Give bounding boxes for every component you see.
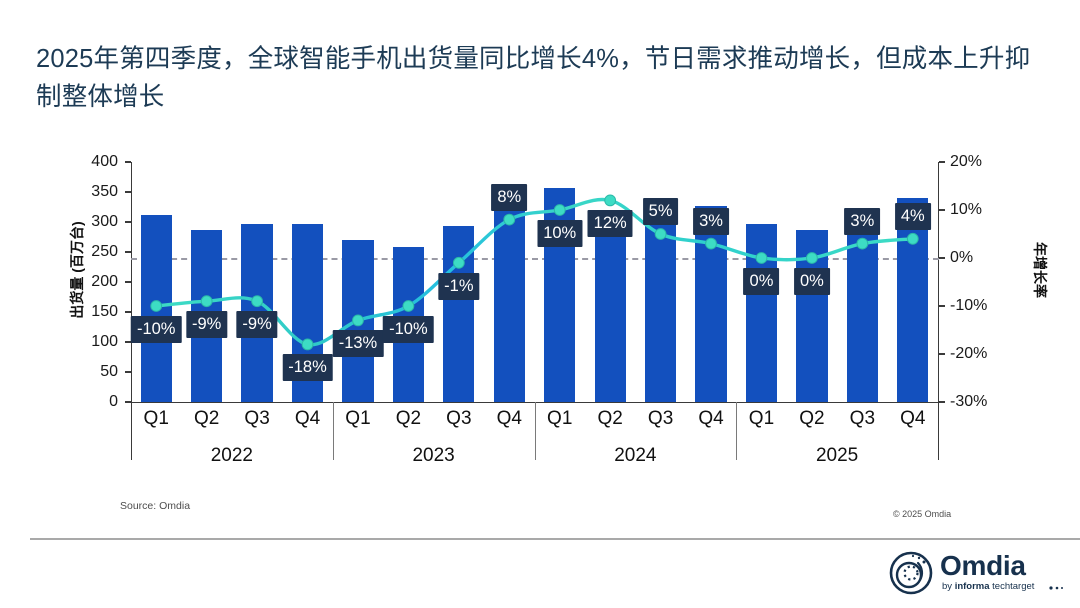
line-marker <box>252 296 263 307</box>
data-label: -9% <box>186 311 227 338</box>
x-axis-quarter-label: Q2 <box>396 408 421 430</box>
y-axis-right-tick-label: -30% <box>950 394 1020 410</box>
y-axis-right-title: 年增长率 <box>1030 185 1050 355</box>
line-marker <box>403 301 414 312</box>
tagline-prefix: by <box>942 581 955 592</box>
y-axis-right-tick <box>939 305 945 306</box>
x-axis-year-label: 2024 <box>614 445 656 467</box>
data-label: 3% <box>844 208 880 235</box>
y-axis-left-tick-label: 300 <box>62 214 118 230</box>
x-axis-quarter-label: Q1 <box>144 408 169 430</box>
x-axis-group-separator <box>535 402 536 460</box>
x-axis-group-separator <box>131 402 132 460</box>
x-axis-quarter-label: Q1 <box>345 408 370 430</box>
line-marker <box>706 238 717 249</box>
omdia-logo-tagline: by informa techtarget <box>942 581 1034 592</box>
line-marker <box>605 195 616 206</box>
y-axis-right-tick <box>939 209 945 210</box>
data-label: 4% <box>895 203 931 230</box>
tagline-suffix: techtarget <box>990 581 1035 592</box>
line-marker <box>807 253 818 264</box>
x-axis-year-label: 2023 <box>412 445 454 467</box>
y-axis-left-tick-label: 100 <box>62 334 118 350</box>
footer-divider <box>30 538 1080 540</box>
x-axis-quarter-label: Q2 <box>799 408 824 430</box>
y-axis-right-tick <box>939 353 945 354</box>
y-axis-left-tick-label: 150 <box>62 304 118 320</box>
data-label: 0% <box>794 268 830 295</box>
data-label: -10% <box>383 316 434 343</box>
source-note: Source: Omdia <box>120 500 190 512</box>
x-axis-quarter-label: Q4 <box>900 408 925 430</box>
line-marker <box>756 253 767 264</box>
y-axis-left-tick-label: 0 <box>62 394 118 410</box>
data-label: 10% <box>537 220 582 247</box>
data-label: -9% <box>236 311 277 338</box>
y-axis-right-tick-label: 10% <box>950 202 1020 218</box>
data-label: 0% <box>744 268 780 295</box>
data-label: 12% <box>588 210 633 237</box>
line-marker <box>655 229 666 240</box>
tagline-bold: informa <box>955 581 990 592</box>
data-label: -1% <box>438 273 479 300</box>
x-axis-quarter-label: Q3 <box>850 408 875 430</box>
line-marker <box>302 339 313 350</box>
x-axis-quarter-label: Q3 <box>648 408 673 430</box>
y-axis-left-tick-label: 400 <box>62 154 118 170</box>
x-axis-group-separator <box>736 402 737 460</box>
omdia-logo-mark <box>888 550 934 596</box>
data-label: 5% <box>643 198 679 225</box>
line-marker <box>453 257 464 268</box>
x-axis-quarter-label: Q2 <box>194 408 219 430</box>
x-axis-quarter-label: Q4 <box>295 408 320 430</box>
line-marker <box>504 214 515 225</box>
y-axis-right-tick <box>939 401 945 402</box>
y-axis-left-tick-label: 350 <box>62 184 118 200</box>
line-marker <box>201 296 212 307</box>
y-axis-left-tick-label: 200 <box>62 274 118 290</box>
line-marker <box>907 233 918 244</box>
omdia-logo-wordmark: Omdia <box>940 550 1026 582</box>
y-axis-right-tick-label: -10% <box>950 298 1020 314</box>
x-axis-quarter-label: Q3 <box>244 408 269 430</box>
data-label: -18% <box>282 354 333 381</box>
line-marker <box>353 315 364 326</box>
y-axis-right-tick <box>939 161 945 162</box>
y-axis-right-line <box>938 162 939 402</box>
line-marker <box>554 205 565 216</box>
line-marker <box>151 301 162 312</box>
x-axis-group-separator <box>938 402 939 460</box>
y-axis-left-tick-label: 50 <box>62 364 118 380</box>
y-axis-left-title: 出货量 (百万台) <box>67 185 87 355</box>
x-axis-quarter-label: Q3 <box>446 408 471 430</box>
x-axis-quarter-label: Q4 <box>698 408 723 430</box>
omdia-logo: Omdia by informa techtarget <box>888 548 1068 600</box>
page-title: 2025年第四季度，全球智能手机出货量同比增长4%，节日需求推动增长，但成本上升… <box>36 40 1046 116</box>
x-axis-quarter-label: Q1 <box>749 408 774 430</box>
line-marker <box>857 238 868 249</box>
y-axis-right-tick <box>939 257 945 258</box>
y-axis-left-tick-label: 250 <box>62 244 118 260</box>
x-axis-quarter-label: Q1 <box>547 408 572 430</box>
data-label: 8% <box>491 184 527 211</box>
y-axis-right-tick-label: -20% <box>950 346 1020 362</box>
data-label: -13% <box>333 330 384 357</box>
chart-container: 出货量 (百万台) 年增长率 400350300250200150100500 … <box>0 140 1080 530</box>
x-axis-year-label: 2025 <box>816 445 858 467</box>
x-axis-group-separator <box>333 402 334 460</box>
omdia-logo-dots <box>1048 584 1068 592</box>
data-label: -10% <box>131 316 182 343</box>
data-label: 3% <box>693 208 729 235</box>
copyright-note: © 2025 Omdia <box>893 509 951 519</box>
x-axis-year-label: 2022 <box>211 445 253 467</box>
x-axis-quarter-label: Q2 <box>597 408 622 430</box>
y-axis-right-tick-label: 0% <box>950 250 1020 266</box>
y-axis-right-tick-label: 20% <box>950 154 1020 170</box>
x-axis-quarter-label: Q4 <box>497 408 522 430</box>
